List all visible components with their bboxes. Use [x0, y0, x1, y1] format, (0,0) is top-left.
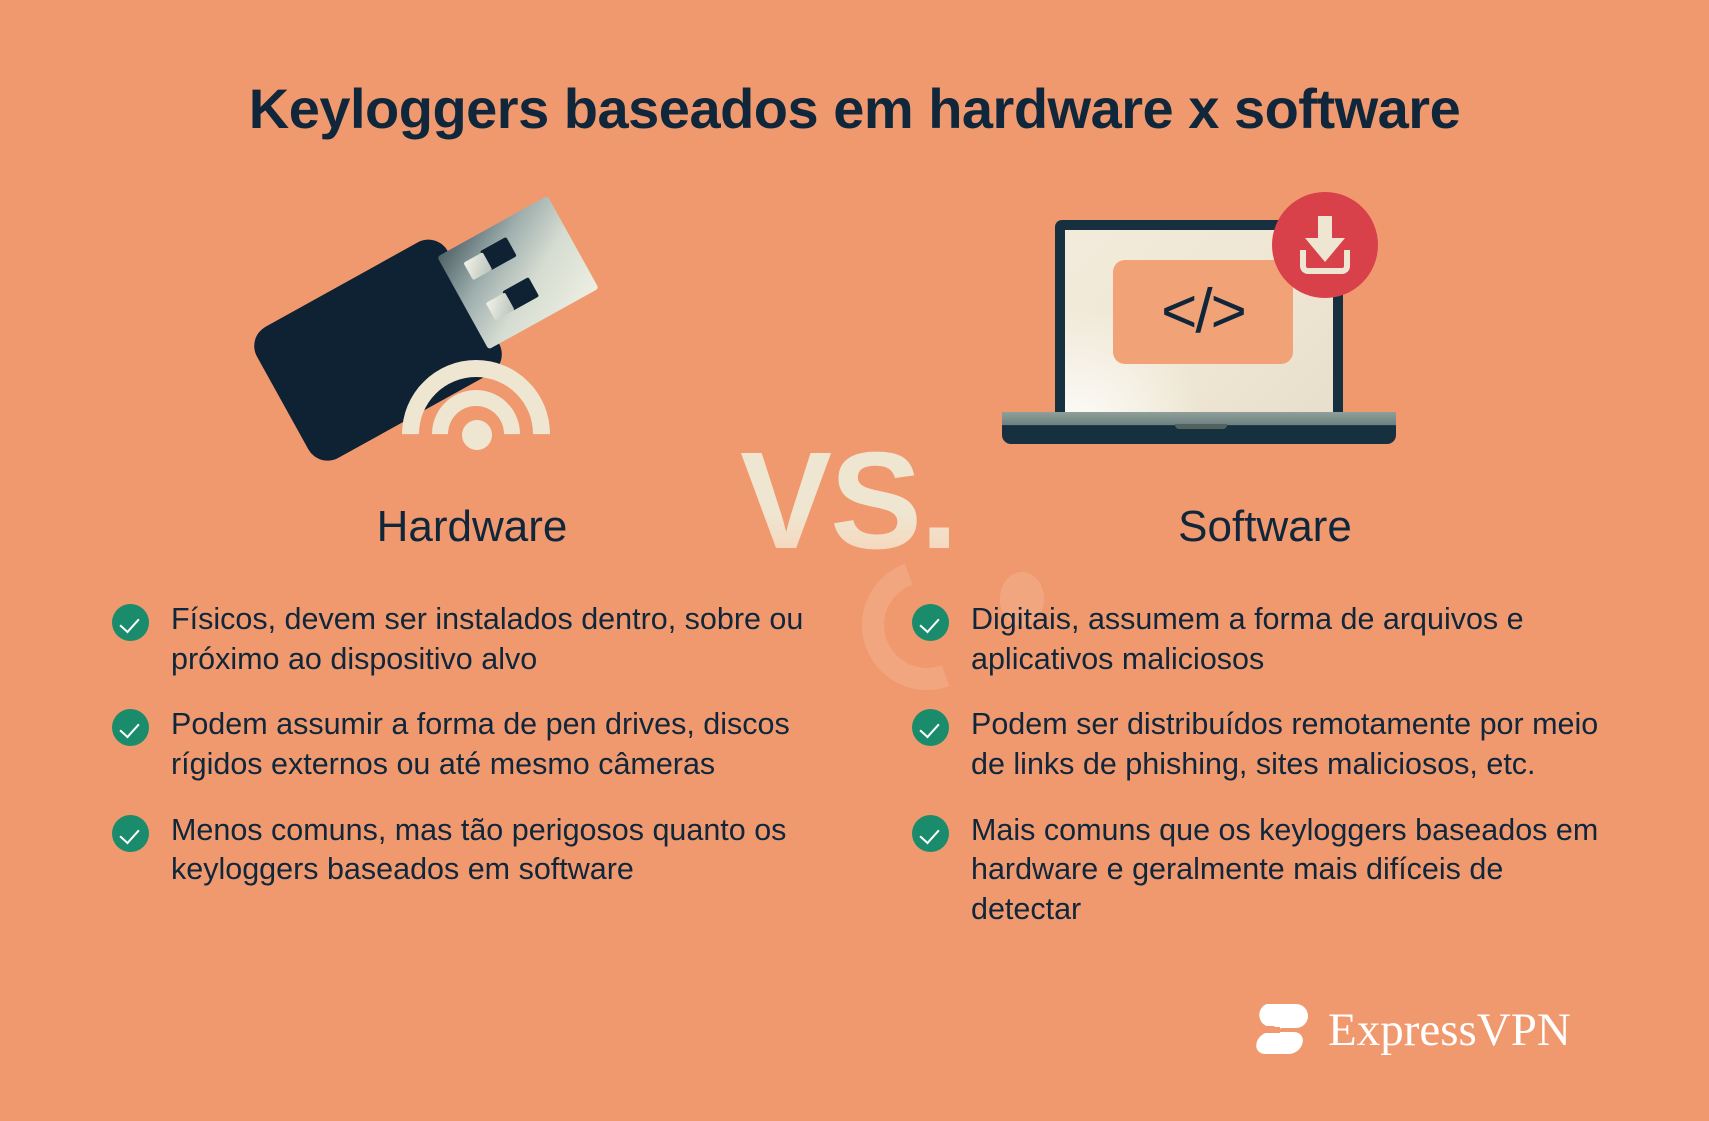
software-illustration: </>: [900, 170, 1620, 500]
list-item: Digitais, assumem a forma de arquivos e …: [912, 600, 1620, 679]
hardware-illustration: [92, 170, 852, 500]
list-item: Podem assumir a forma de pen drives, dis…: [112, 705, 852, 784]
hardware-bullet-list: Físicos, devem ser instalados dentro, so…: [92, 600, 852, 890]
check-icon: [112, 604, 149, 641]
check-icon: [912, 709, 949, 746]
expressvpn-e-mark: [1248, 1002, 1314, 1058]
laptop-code-download-icon: </>: [1000, 192, 1420, 492]
laptop-notch: [1175, 424, 1227, 429]
list-item-text: Digitais, assumem a forma de arquivos e …: [971, 600, 1620, 679]
expressvpn-wordmark: ExpressVPN: [1328, 1007, 1571, 1054]
usb-flash-drive-wireless-icon: [222, 190, 642, 490]
list-item: Físicos, devem ser instalados dentro, so…: [112, 600, 852, 679]
list-item: Menos comuns, mas tão perigosos quanto o…: [112, 811, 852, 890]
check-icon: [912, 815, 949, 852]
code-panel: </>: [1113, 260, 1293, 364]
list-item-text: Podem ser distribuídos remotamente por m…: [971, 705, 1620, 784]
hardware-column: Hardware Físicos, devem ser instalados d…: [92, 170, 852, 916]
list-item-text: Mais comuns que os keyloggers baseados e…: [971, 811, 1620, 930]
software-heading: Software: [910, 502, 1620, 552]
hardware-heading: Hardware: [92, 502, 852, 552]
software-column: </> Software Digitais, assumem a forma d…: [900, 170, 1620, 955]
wifi-dot: [462, 420, 492, 450]
infographic-canvas: Keyloggers baseados em hardware x softwa…: [0, 0, 1709, 1121]
list-item-text: Menos comuns, mas tão perigosos quanto o…: [171, 811, 852, 890]
page-title: Keyloggers baseados em hardware x softwa…: [0, 76, 1709, 141]
software-bullet-list: Digitais, assumem a forma de arquivos e …: [900, 600, 1620, 929]
list-item-text: Podem assumir a forma de pen drives, dis…: [171, 705, 852, 784]
check-icon: [112, 815, 149, 852]
code-icon: </>: [1113, 260, 1293, 364]
expressvpn-logo: ExpressVPN: [1248, 1002, 1571, 1058]
check-icon: [112, 709, 149, 746]
wifi-signal-icon: [402, 360, 552, 470]
list-item: Podem ser distribuídos remotamente por m…: [912, 705, 1620, 784]
download-icon: [1272, 192, 1378, 298]
check-icon: [912, 604, 949, 641]
list-item: Mais comuns que os keyloggers baseados e…: [912, 811, 1620, 930]
list-item-text: Físicos, devem ser instalados dentro, so…: [171, 600, 852, 679]
download-tray: [1300, 250, 1350, 274]
